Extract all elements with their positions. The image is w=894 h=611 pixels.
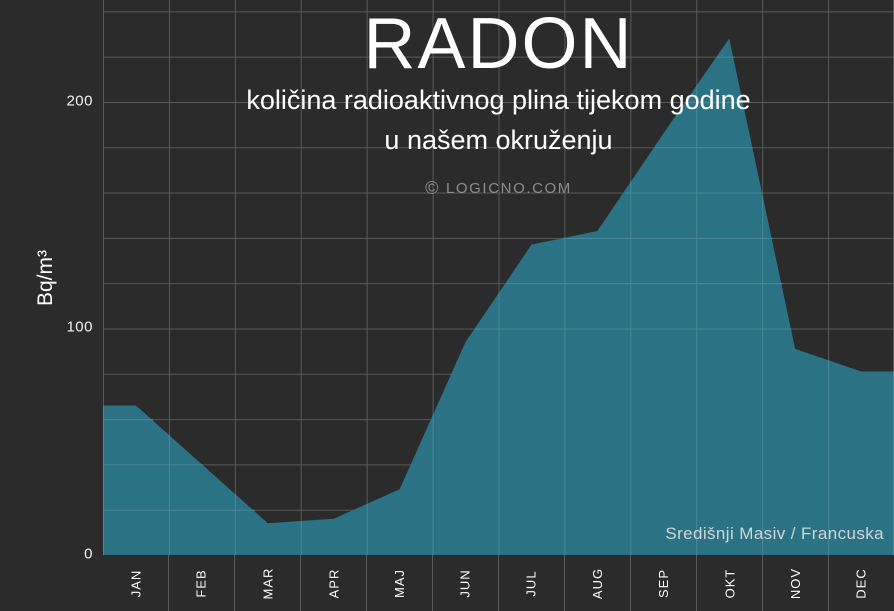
x-tick-label: APR xyxy=(326,568,341,598)
x-tick-label: AUG xyxy=(590,567,605,598)
x-axis-tick-feb: FEB xyxy=(169,555,235,611)
x-axis-tick-maj: MAJ xyxy=(367,555,433,611)
x-tick-label: DEC xyxy=(854,568,869,598)
x-axis-tick-jan: JAN xyxy=(103,555,169,611)
y-tick-label: 0 xyxy=(84,546,93,563)
x-tick-label: MAJ xyxy=(392,569,407,598)
x-axis-tick-sep: SEP xyxy=(631,555,697,611)
x-tick-label: OKT xyxy=(722,568,737,598)
x-axis-tick-aug: AUG xyxy=(565,555,631,611)
grid-lines-over-area xyxy=(103,0,894,555)
x-tick-label: FEB xyxy=(194,569,209,597)
x-axis-tick-jun: JUN xyxy=(433,555,499,611)
x-tick-label: SEP xyxy=(656,568,671,597)
y-tick-label: 200 xyxy=(66,93,93,110)
x-tick-label: MAR xyxy=(260,567,275,599)
x-tick-label: JAN xyxy=(128,569,143,597)
y-axis-title: Bq/m³ xyxy=(34,218,58,338)
x-axis-tick-apr: APR xyxy=(301,555,367,611)
x-axis-tick-mar: MAR xyxy=(235,555,301,611)
y-axis: Bq/m³ 200 100 0 xyxy=(0,0,103,555)
x-axis-tick-dec: DEC xyxy=(829,555,894,611)
x-tick-label: JUL xyxy=(524,570,539,596)
x-tick-label: NOV xyxy=(788,567,803,598)
x-axis-tick-nov: NOV xyxy=(763,555,829,611)
legend: Središnji Masiv / Francuska xyxy=(665,524,884,544)
chart-root: Bq/m³ 200 100 0 Središnji Masiv / Francu… xyxy=(0,0,894,611)
plot-area: Središnji Masiv / Francuska xyxy=(103,0,894,555)
x-axis-tick-jul: JUL xyxy=(499,555,565,611)
x-axis-tick-okt: OKT xyxy=(697,555,763,611)
x-axis: JANFEBMARAPRMAJJUNJULAUGSEPOKTNOVDEC xyxy=(103,555,894,611)
y-tick-label: 100 xyxy=(66,319,93,336)
x-tick-label: JUN xyxy=(458,569,473,597)
